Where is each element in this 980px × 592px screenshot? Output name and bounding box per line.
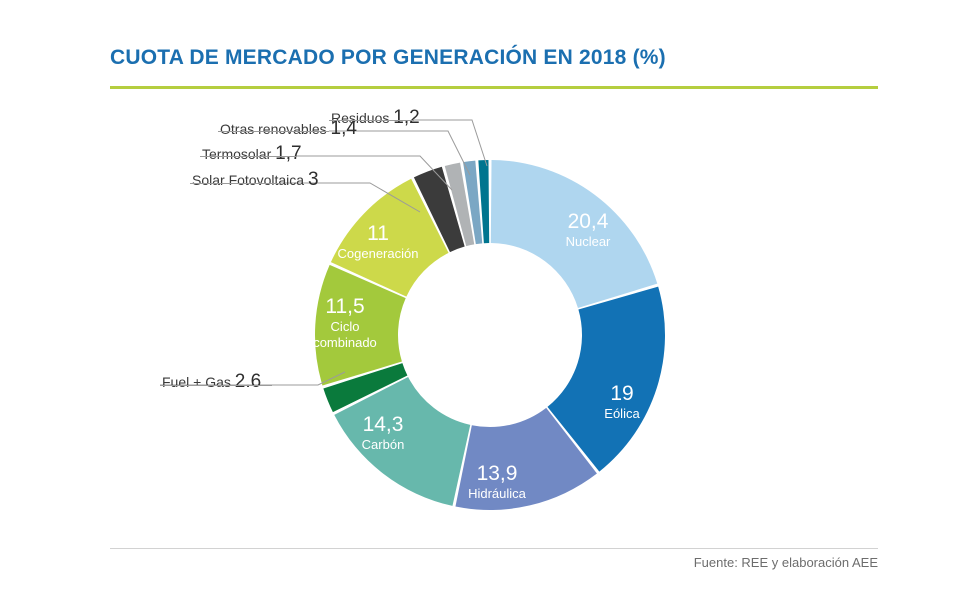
slice-value-carbon: 14,3 — [363, 413, 404, 436]
callout-termosolar-name: Termosolar — [202, 146, 271, 162]
callout-residuos-value: 1,2 — [393, 107, 419, 128]
callout-underline-termosolar — [200, 156, 296, 157]
callout-underline-residuos — [329, 120, 414, 121]
callout-fuel-gas-name: Fuel + Gas — [162, 374, 231, 390]
slice-name-ciclo-combinado-line2: combinado — [313, 335, 377, 350]
callout-otras-renovables-name: Otras renovables — [220, 121, 327, 137]
callout-solar-fotovoltaica-name: Solar Fotovoltaica — [192, 172, 304, 188]
callout-residuos-name: Residuos — [331, 110, 389, 126]
callout-residuos: Residuos 1,2 — [331, 108, 420, 127]
slice-name-ciclo-combinado-line1: Ciclo — [331, 319, 360, 334]
callout-solar-fotovoltaica-value: 3 — [308, 169, 319, 190]
callout-underline-solar-fotovoltaica — [190, 183, 280, 184]
slice-name-nuclear: Nuclear — [566, 234, 611, 249]
footer-divider — [110, 548, 878, 549]
callout-solar-fotovoltaica: Solar Fotovoltaica 3 — [192, 170, 319, 189]
callout-underline-fuel-gas — [160, 385, 272, 386]
slice-name-hidraulica: Hidráulica — [468, 486, 527, 501]
callout-termosolar-value: 1,7 — [275, 143, 301, 164]
donut-chart: 20,4 Nuclear 19 Eólica 13,9 Hidráulica 1… — [0, 0, 980, 592]
slice-name-carbon: Carbón — [362, 437, 405, 452]
chart-container: CUOTA DE MERCADO POR GENERACIÓN EN 2018 … — [0, 0, 980, 592]
callout-termosolar: Termosolar 1,7 — [202, 144, 302, 163]
slice-name-cogeneracion: Cogeneración — [338, 246, 419, 261]
slice-value-cogeneracion: 11 — [367, 222, 389, 245]
slice-value-ciclo-combinado: 11,5 — [325, 295, 364, 318]
source-note: Fuente: REE y elaboración AEE — [694, 555, 878, 570]
callout-underline-otras-renovables — [218, 131, 329, 132]
slice-name-eolica: Eólica — [604, 406, 640, 421]
callout-fuel-gas-value: 2.6 — [235, 371, 261, 392]
leader-residuos — [414, 120, 487, 166]
slice-value-nuclear: 20,4 — [568, 210, 609, 233]
slice-value-eolica: 19 — [610, 382, 633, 405]
callout-fuel-gas: Fuel + Gas 2.6 — [162, 372, 261, 391]
slice-value-hidraulica: 13,9 — [477, 462, 518, 485]
